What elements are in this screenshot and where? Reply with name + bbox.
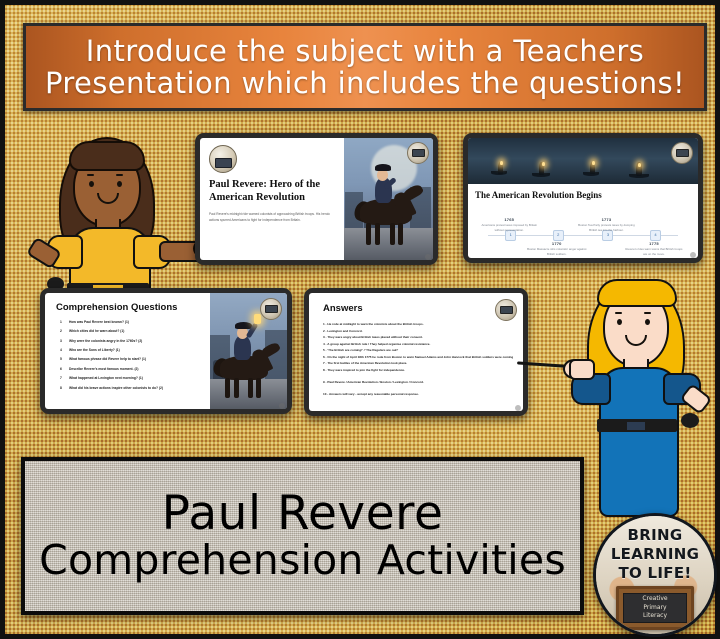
question-number: 4	[60, 348, 62, 353]
question-number: 8	[60, 386, 62, 391]
teacher-right-fringe	[597, 279, 677, 307]
timeline-event-4-year: 1775	[624, 241, 684, 246]
teacher-left-brow-left	[87, 174, 94, 176]
chalkboard-line-2: Primary	[643, 604, 666, 613]
teacher-left-eye-right	[117, 181, 122, 187]
teacher-right-pointer-stick	[517, 361, 569, 368]
question-text: What famous phrase did Revere help to st…	[69, 357, 146, 361]
slide-answers[interactable]: Answers 1 - He rode at midnight to warn …	[304, 288, 528, 416]
slide-title[interactable]: Paul Revere: Hero of the American Revolu…	[195, 133, 438, 265]
question-number: 7	[60, 376, 62, 381]
slide-title-logo-icon	[209, 145, 237, 173]
chalkboard-icon: Creative Primary Literacy	[616, 586, 694, 630]
horse-leg-4	[256, 378, 261, 398]
product-title-line-2: Comprehension Activities	[39, 539, 566, 582]
answer-item: 2 - Lexington and Concord.	[323, 329, 513, 334]
question-number: 3	[60, 339, 62, 344]
horse-leg-3	[248, 378, 253, 398]
question-text: Why were the colonists angry in the 1760…	[69, 339, 142, 343]
timeline-event-4: 1775 Revere's rides warn towns that Brit…	[624, 241, 684, 257]
horse-leg-2	[375, 223, 380, 245]
timeline-event-3: 1773 Boston Tea Party protests taxes by …	[576, 217, 636, 233]
question-text: What did his brave actions inspire other…	[69, 386, 163, 390]
timeline-event-2-text: Boston Massacre stirs colonists' anger a…	[527, 247, 587, 257]
question-text: Which cities did he warn about? (1)	[69, 329, 124, 333]
timeline-event-2-year: 1770	[527, 241, 587, 246]
teacher-right-brow-left	[615, 312, 622, 314]
teacher-right-eye-right	[645, 319, 650, 325]
question-item: 8What did his brave actions inspire othe…	[69, 386, 203, 391]
timeline-event-3-text: Boston Tea Party protests taxes by dumpi…	[576, 223, 636, 233]
question-text: How was Paul Revere best known? (1)	[69, 320, 129, 324]
questions-list: 1How was Paul Revere best known? (1) 2Wh…	[56, 320, 203, 390]
timeline-event-2: 1770 Boston Massacre stirs colonists' an…	[527, 241, 587, 257]
chalkboard-surface: Creative Primary Literacy	[623, 593, 687, 623]
answers-spacer	[323, 374, 513, 378]
questions-column: Comprehension Questions 1How was Paul Re…	[45, 293, 210, 409]
question-item: 7What happened at Lexington next morning…	[69, 376, 203, 381]
answers-list: 1 - He rode at midnight to warn the colo…	[323, 322, 513, 398]
teacher-right-hand-hip	[681, 413, 699, 428]
brand-badge-line-1: BRING	[628, 526, 683, 544]
teacher-left-fringe	[69, 141, 145, 171]
question-item: 2Which cities did he warn about? (1)	[69, 329, 203, 334]
brand-badge-line-3: TO LIFE!	[618, 564, 691, 582]
slide-timeline-watermark-icon	[671, 142, 693, 164]
timeline-event-1-text: Americans protest taxes imposed by Brita…	[479, 223, 539, 233]
timeline-event-3-year: 1773	[576, 217, 636, 222]
teacher-right-forearm-left	[569, 359, 595, 380]
horse-leg-1	[225, 378, 230, 398]
answer-item: 8 - They were inspired to join the fight…	[323, 368, 513, 373]
slide-title-heading: Paul Revere: Hero of the American Revolu…	[209, 178, 336, 205]
torch-flame-2	[542, 162, 545, 166]
slide-title-body: Paul Revere's midnight ride warned colon…	[209, 211, 336, 223]
timeline-event-4-text: Revere's rides warn towns that British t…	[624, 247, 684, 257]
questions-watermark-icon	[260, 298, 282, 320]
slide-title-watermark-icon	[407, 142, 429, 164]
product-cover: Introduce the subject with a Teachers Pr…	[0, 0, 720, 639]
chalkboard-line-3: Literacy	[643, 612, 667, 621]
answer-item: 3 - They were angry about British taxes …	[323, 335, 513, 340]
answers-watermark-icon	[495, 299, 517, 321]
slide-comprehension-questions[interactable]: Comprehension Questions 1How was Paul Re…	[40, 288, 292, 414]
street-ground	[344, 228, 433, 260]
answer-item: 1 - He rode at midnight to warn the colo…	[323, 322, 513, 327]
question-item: 1How was Paul Revere best known? (1)	[69, 320, 203, 325]
horse-leg-3	[390, 223, 395, 245]
question-number: 5	[60, 357, 62, 362]
question-number: 6	[60, 367, 62, 372]
teacher-left-eye-left	[89, 181, 94, 187]
question-text: Who are the Sons of Liberty? (1)	[69, 348, 120, 352]
slide-timeline[interactable]: The American Revolution Begins 1 2 3 4 1…	[463, 133, 703, 263]
teacher-right-brow-right	[644, 312, 651, 314]
header-banner: Introduce the subject with a Teachers Pr…	[23, 23, 707, 111]
slide-timeline-body: The American Revolution Begins 1 2 3 4 1…	[468, 184, 698, 258]
header-banner-line-1: Introduce the subject with a Teachers	[86, 35, 644, 67]
question-item: 5What famous phrase did Revere help to s…	[69, 357, 203, 362]
slide-timeline-heading: The American Revolution Begins	[475, 190, 691, 200]
teacher-left-brow-right	[116, 174, 123, 176]
slide-timeline-photo	[468, 138, 698, 184]
question-number: 1	[60, 320, 62, 325]
answers-spacer	[323, 386, 513, 390]
answer-item: 7 - The first battles of the American Re…	[323, 361, 513, 366]
answer-item: 6 - On the night of April 18th 1775 he r…	[323, 355, 513, 360]
question-number: 2	[60, 329, 62, 334]
answer-item: 5 - 'The British are coming!' / 'The Reg…	[323, 348, 513, 353]
timeline-track: 1 2 3 4 1765 Americans protest taxes imp…	[475, 205, 691, 258]
product-title-line-1: Paul Revere	[162, 490, 444, 539]
question-text: Describe Revere's most famous moment. (2…	[69, 367, 139, 371]
rider-hat	[375, 164, 391, 171]
lantern-icon	[254, 314, 261, 324]
slide-title-text-column: Paul Revere: Hero of the American Revolu…	[200, 138, 344, 260]
header-banner-line-2: Presentation which includes the question…	[45, 67, 685, 99]
answers-heading: Answers	[323, 303, 513, 314]
answer-item: 9 - Paul Revere / American Revolution / …	[323, 380, 513, 385]
questions-heading: Comprehension Questions	[56, 302, 203, 313]
question-item: 4Who are the Sons of Liberty? (1)	[69, 348, 203, 353]
timeline-event-1: 1765 Americans protest taxes imposed by …	[479, 217, 539, 233]
brand-logo-badge[interactable]: BRING LEARNING TO LIFE! Creative Primary…	[593, 513, 717, 637]
teacher-right-eye-left	[617, 319, 622, 325]
question-item: 3Why were the colonists angry in the 176…	[69, 339, 203, 344]
brand-badge-line-2: LEARNING	[611, 545, 699, 563]
question-text: What happened at Lexington next morning?…	[69, 376, 143, 380]
question-item: 6Describe Revere's most famous moment. (…	[69, 367, 203, 372]
timeline-event-1-year: 1765	[479, 217, 539, 222]
teacher-right-belt-buckle	[627, 422, 645, 430]
horse-leg-2	[234, 378, 239, 398]
horse-leg-1	[366, 223, 371, 245]
horse-leg-4	[398, 223, 403, 245]
product-title-panel: Paul Revere Comprehension Activities	[21, 457, 584, 615]
chalkboard-line-1: Creative	[642, 595, 667, 604]
answer-item: 10 - Answers will vary - accept any reas…	[323, 392, 513, 397]
answer-item: 4 - A group against British rule / They …	[323, 342, 513, 347]
